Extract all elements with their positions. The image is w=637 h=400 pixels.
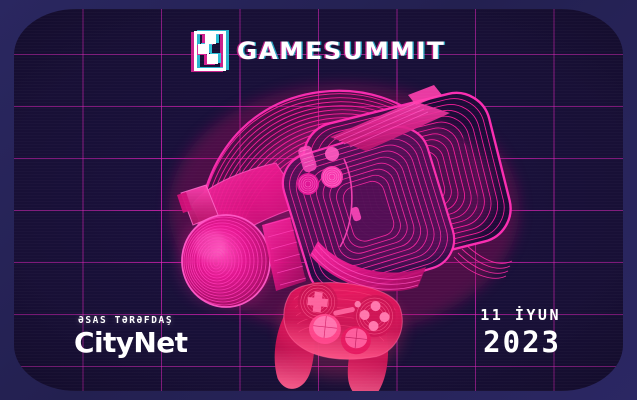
gamesummit-logo-mark-icon — [194, 31, 226, 71]
partner-block: ƏSAS TƏRƏFDAŞ CityNet — [74, 315, 187, 357]
crt-screen: GAMESUMMIT ƏSAS TƏRƏFDAŞ CityNet 11 İYUN… — [14, 9, 623, 391]
partner-name: CityNet — [74, 329, 187, 357]
gamesummit-banner: GAMESUMMIT ƏSAS TƏRƏFDAŞ CityNet 11 İYUN… — [0, 0, 637, 400]
logo-block-white-2 — [198, 44, 209, 54]
event-date-block: 11 İYUN 2023 — [480, 308, 561, 357]
event-date-year: 2023 — [480, 328, 561, 357]
partner-kicker: ƏSAS TƏRƏFDAŞ — [78, 315, 187, 326]
logo-block-white-1 — [205, 34, 216, 44]
logo-block-white-3 — [207, 54, 218, 64]
brand-header: GAMESUMMIT — [14, 31, 623, 71]
event-date-day: 11 İYUN — [480, 308, 561, 323]
gamesummit-wordmark: GAMESUMMIT — [237, 39, 445, 63]
